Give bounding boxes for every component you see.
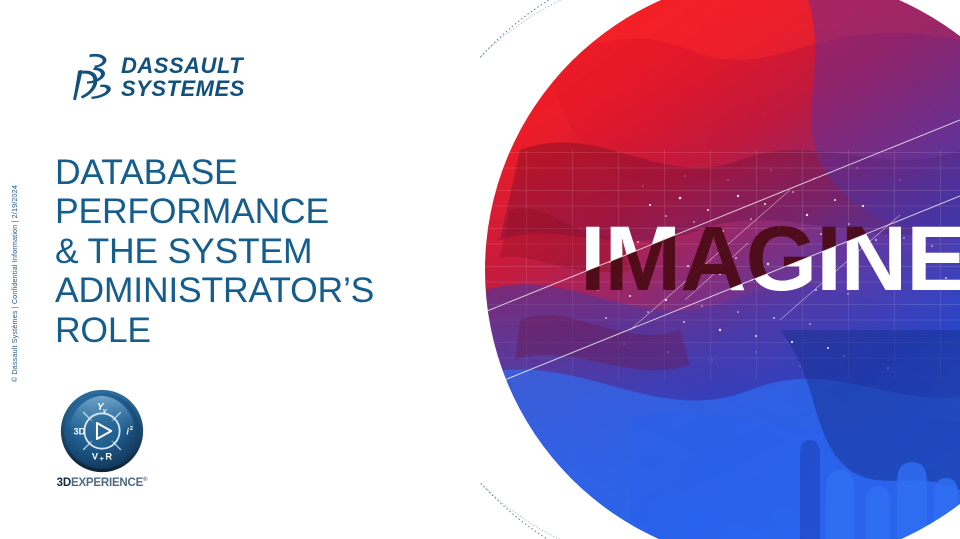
3dexperience-wordmark: 3DEXPERIENCE® (47, 477, 157, 489)
svg-text:SYSTEMES: SYSTEMES (121, 76, 245, 101)
artwork-canvas: IMAGINE IMAGINE IMAGINE (480, 0, 960, 539)
svg-text:R: R (105, 452, 112, 462)
3dexperience-compass-icon: 3D Y γ i 2 V + R (60, 389, 144, 473)
wordmark-trademark: ® (143, 477, 147, 483)
compass-label-3d: 3D (73, 426, 85, 436)
slide-root: © Dassault Systèmes | Confidential Infor… (0, 0, 960, 539)
page-title: DATABASE PERFORMANCE & THE SYSTEM ADMINI… (55, 153, 475, 351)
3ds-monogram-icon (66, 52, 112, 102)
svg-text:+: + (99, 454, 104, 463)
svg-text:DASSAULT: DASSAULT (121, 53, 244, 78)
3dexperience-logo: 3D Y γ i 2 V + R 3DEXPERIENCE® (47, 389, 157, 489)
compass-label-bottom: V (92, 452, 99, 462)
copyright-notice: © Dassault Systèmes | Confidential Infor… (10, 185, 19, 382)
imagine-artwork: IMAGINE IMAGINE IMAGINE (480, 0, 960, 539)
wordmark-experience: EXPERIENCE (71, 477, 143, 489)
dassault-systemes-logo: DASSAULT SYSTEMES (66, 52, 266, 102)
wordmark-3d: 3D (57, 477, 71, 489)
dassault-systemes-wordmark: DASSAULT SYSTEMES (121, 53, 266, 101)
